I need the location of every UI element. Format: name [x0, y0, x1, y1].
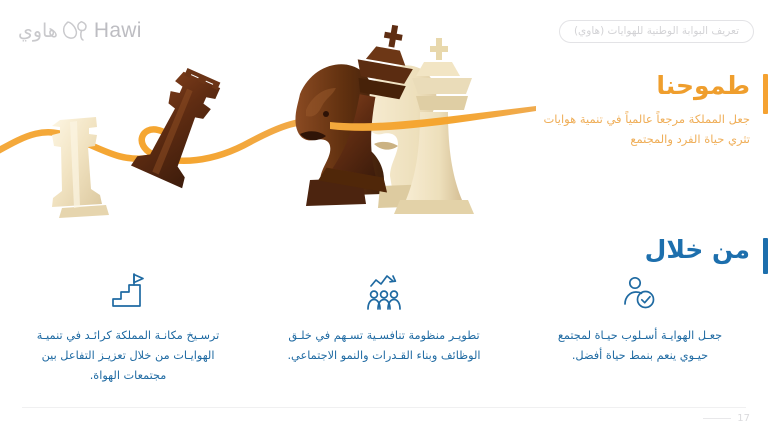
- slide-canvas: هاوي Hawi تعريف البوابة الوطنية للهوايات…: [0, 0, 768, 432]
- ambition-body: جعل المملكة مرجعاً عالمياً في تنمية هواي…: [522, 110, 750, 150]
- white-rook-piece: [52, 117, 109, 218]
- ambition-block: طموحنا جعل المملكة مرجعاً عالمياً في تنم…: [522, 72, 750, 149]
- feature-text: ترسـيخ مكانـة المملكة كرائـد في تنميـة ا…: [30, 326, 226, 385]
- feature-text: جعـل الهوايـة أسـلوب حيـاة لمجتمع حيـوي …: [542, 326, 738, 366]
- person-check-icon: [620, 272, 660, 314]
- features-row: جعـل الهوايـة أسـلوب حيـاة لمجتمع حيـوي …: [0, 272, 768, 397]
- feature-item-leadership: ترسـيخ مكانـة المملكة كرائـد في تنميـة ا…: [0, 272, 256, 397]
- brown-rook-piece: [131, 63, 228, 188]
- section-badge: تعريف البوابة الوطنية للهوايات (هاوي): [559, 20, 754, 43]
- through-heading: من خلال: [522, 236, 750, 265]
- stairs-flag-icon: [108, 272, 148, 314]
- page-number-dash: [703, 418, 731, 419]
- people-growth-arrow-icon: [362, 272, 406, 314]
- footer-divider: [22, 407, 746, 408]
- ambition-accent-bar: [763, 74, 768, 114]
- feature-item-lifestyle: جعـل الهوايـة أسـلوب حيـاة لمجتمع حيـوي …: [512, 272, 768, 397]
- page-number-group: 17: [703, 413, 750, 424]
- feature-item-ecosystem: تطويـر منظومة تنافسـية تسـهم في خلـق الو…: [256, 272, 512, 397]
- hero-chess-illustration: [0, 22, 560, 237]
- through-block: من خلال: [522, 236, 750, 265]
- page-number-label: 17: [737, 413, 750, 424]
- ambition-heading: طموحنا: [522, 72, 750, 101]
- through-accent-bar: [763, 238, 768, 274]
- feature-text: تطويـر منظومة تنافسـية تسـهم في خلـق الو…: [286, 326, 482, 366]
